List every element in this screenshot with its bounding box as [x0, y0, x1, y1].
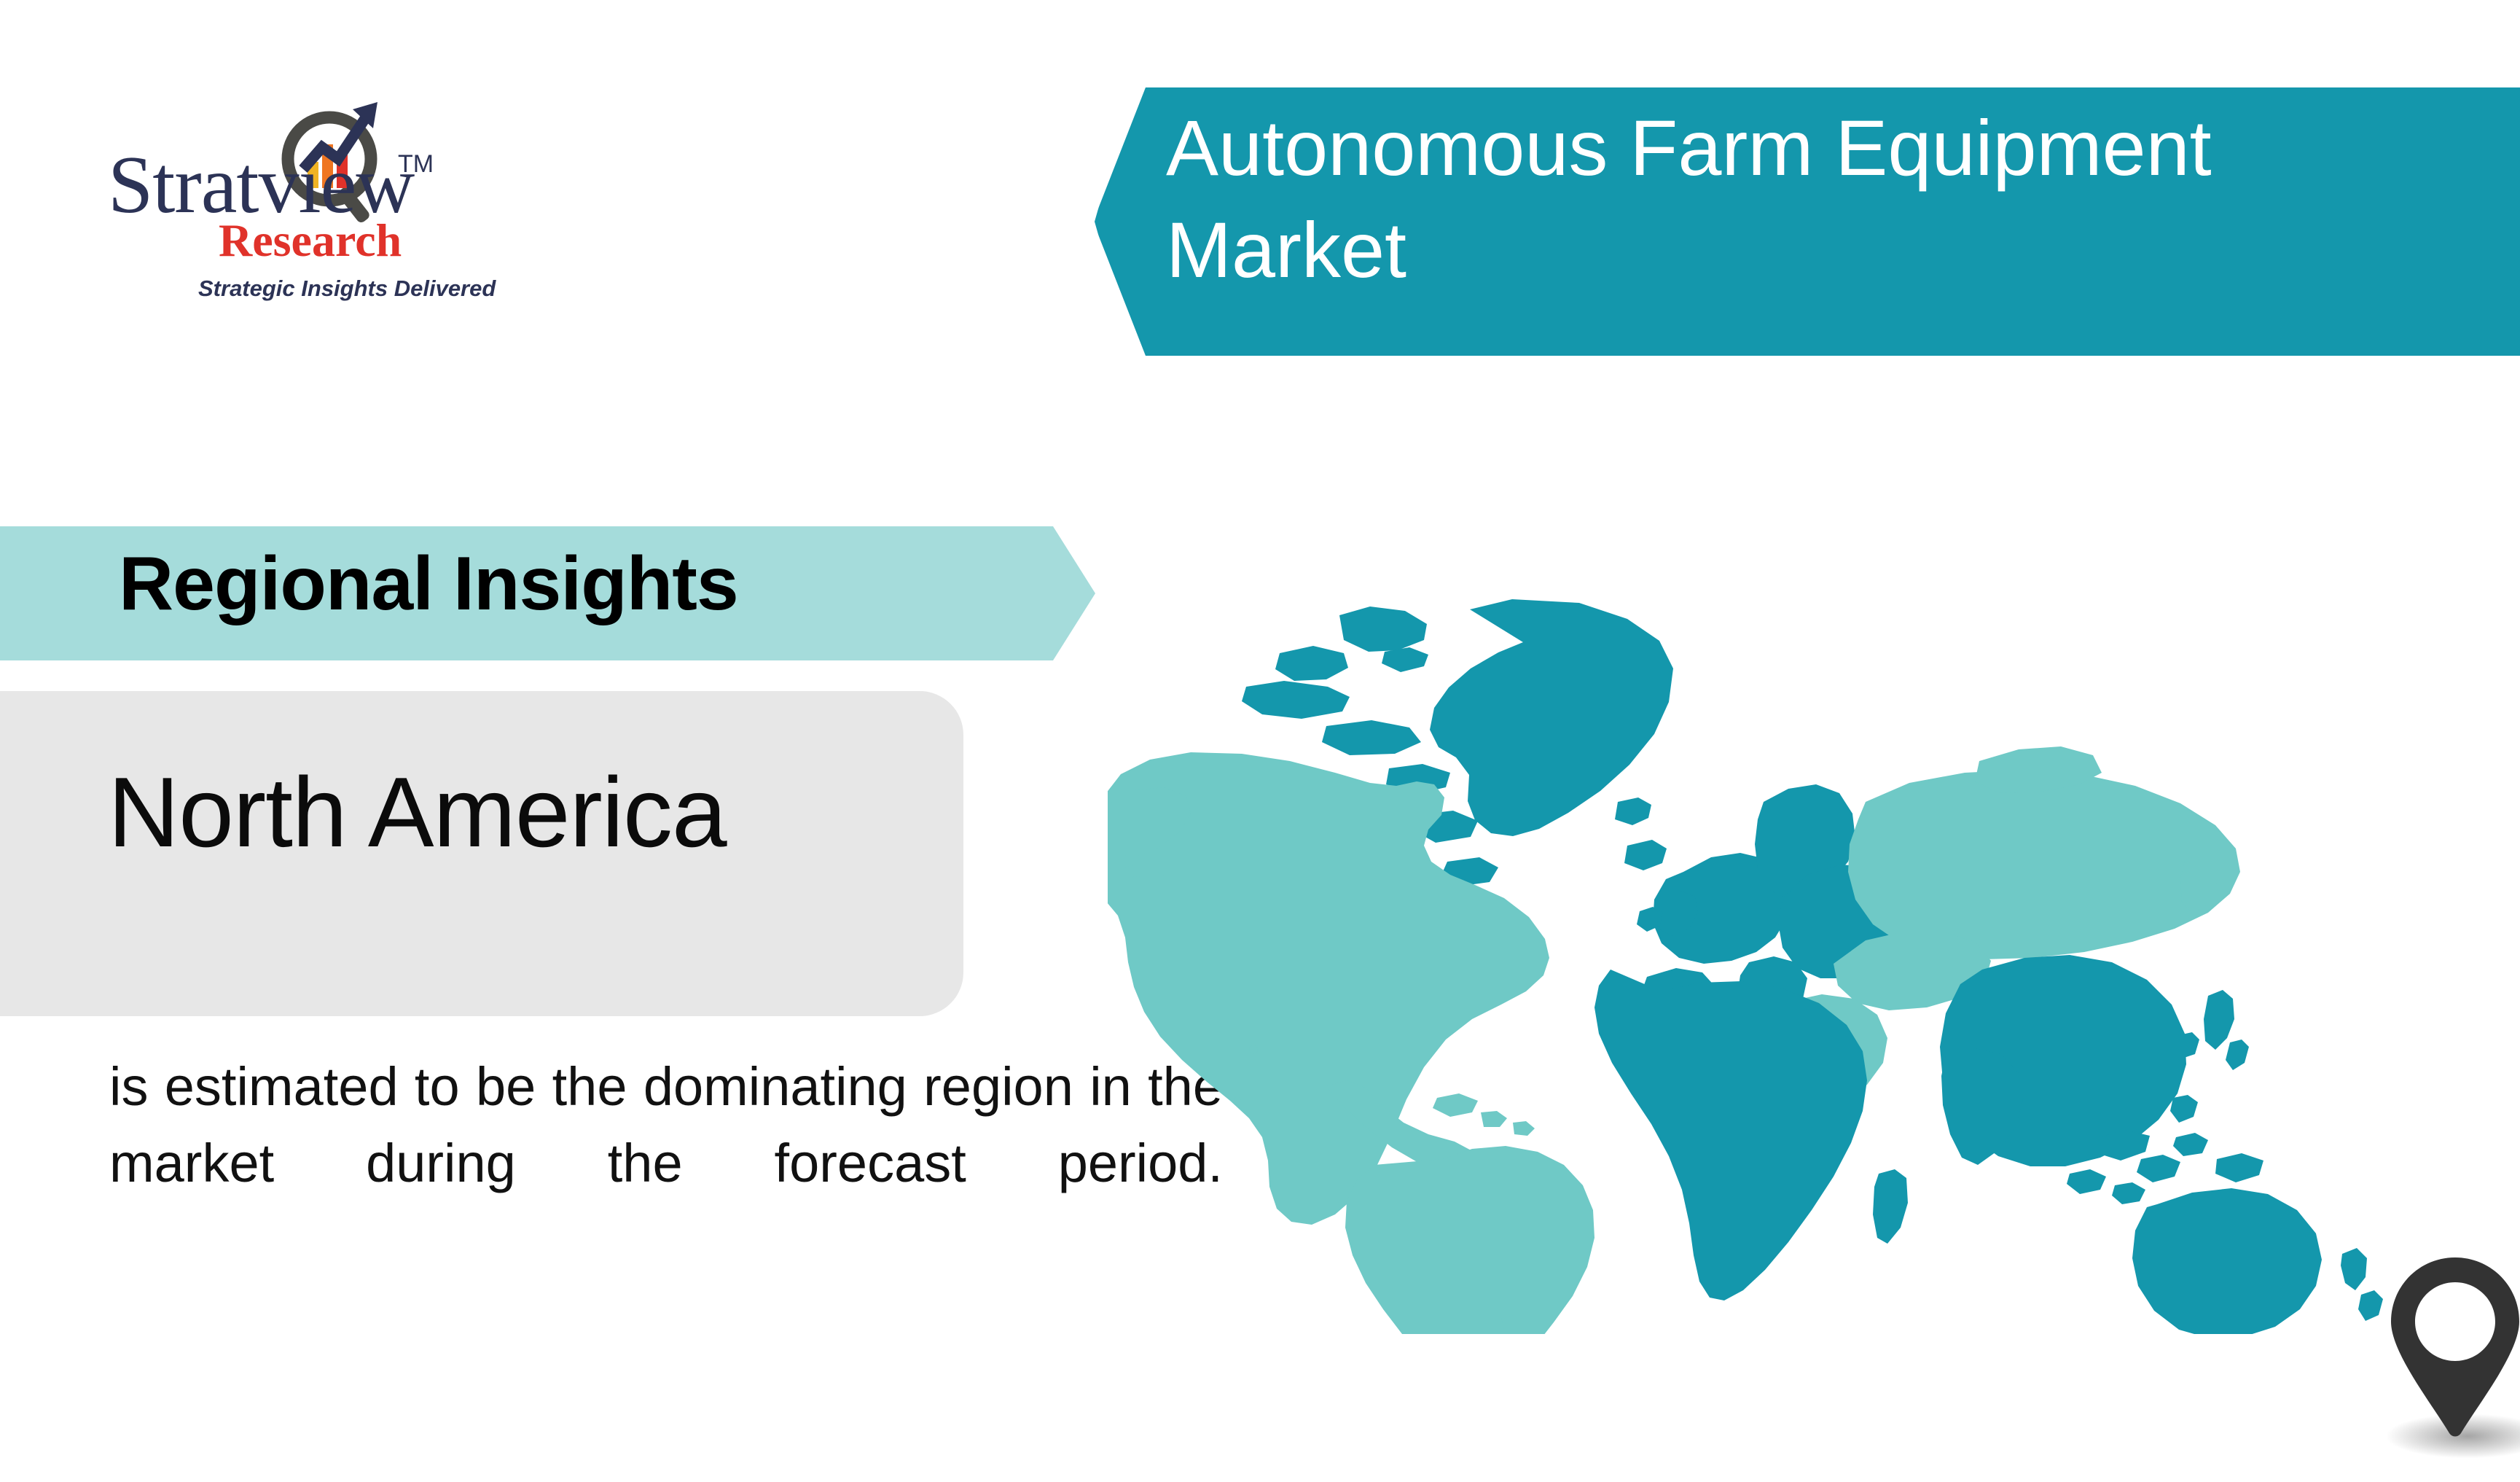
map-region-arctic-isle-3 — [1242, 681, 1350, 719]
region-name: North America — [108, 755, 727, 869]
map-region-australia — [2132, 1188, 2322, 1334]
trademark-symbol: TM — [398, 150, 434, 179]
logo-tagline: Strategic Insights Delivered — [198, 276, 496, 302]
map-region-iceland — [1624, 840, 1667, 870]
map-pin-icon[interactable] — [2389, 1256, 2520, 1437]
map-region-madagascar — [1873, 1169, 1908, 1244]
map-region-pacific-isle — [1234, 1097, 1241, 1104]
section-heading: Regional Insights — [119, 541, 738, 628]
logo-research-word: Research — [219, 217, 402, 264]
map-region-greenland-isles — [1615, 797, 1651, 825]
map-region-canada-arctic — [1339, 607, 1427, 652]
double-chevron-left-icon — [1049, 119, 1122, 325]
map-region-japan — [2204, 990, 2249, 1070]
infographic-slide: Stratview TM Research Strategic Insights… — [0, 0, 2520, 1482]
map-region-png — [2215, 1153, 2263, 1182]
world-map — [1108, 583, 2485, 1334]
map-region-new-zealand — [2341, 1248, 2383, 1321]
map-region-hawaii — [1249, 1045, 1258, 1054]
map-region-arctic-isle-2 — [1275, 646, 1348, 681]
map-region-south-america — [1345, 1146, 1594, 1334]
map-region-arctic-isle-8 — [1382, 647, 1428, 672]
page-title: Autonomous Farm Equipment Market — [1166, 97, 2470, 302]
brand-logo[interactable]: Stratview TM Research Strategic Insights… — [108, 124, 458, 313]
map-landmasses — [1108, 599, 2383, 1334]
map-region-arctic-isle-4 — [1322, 720, 1421, 755]
map-region-russia — [1848, 770, 2240, 959]
map-region-africa — [1594, 970, 1867, 1300]
map-region-caribbean — [1433, 1093, 1535, 1136]
region-description: is estimated to be the dominating region… — [109, 1048, 1223, 1278]
map-region-philippines — [2170, 1095, 2198, 1123]
